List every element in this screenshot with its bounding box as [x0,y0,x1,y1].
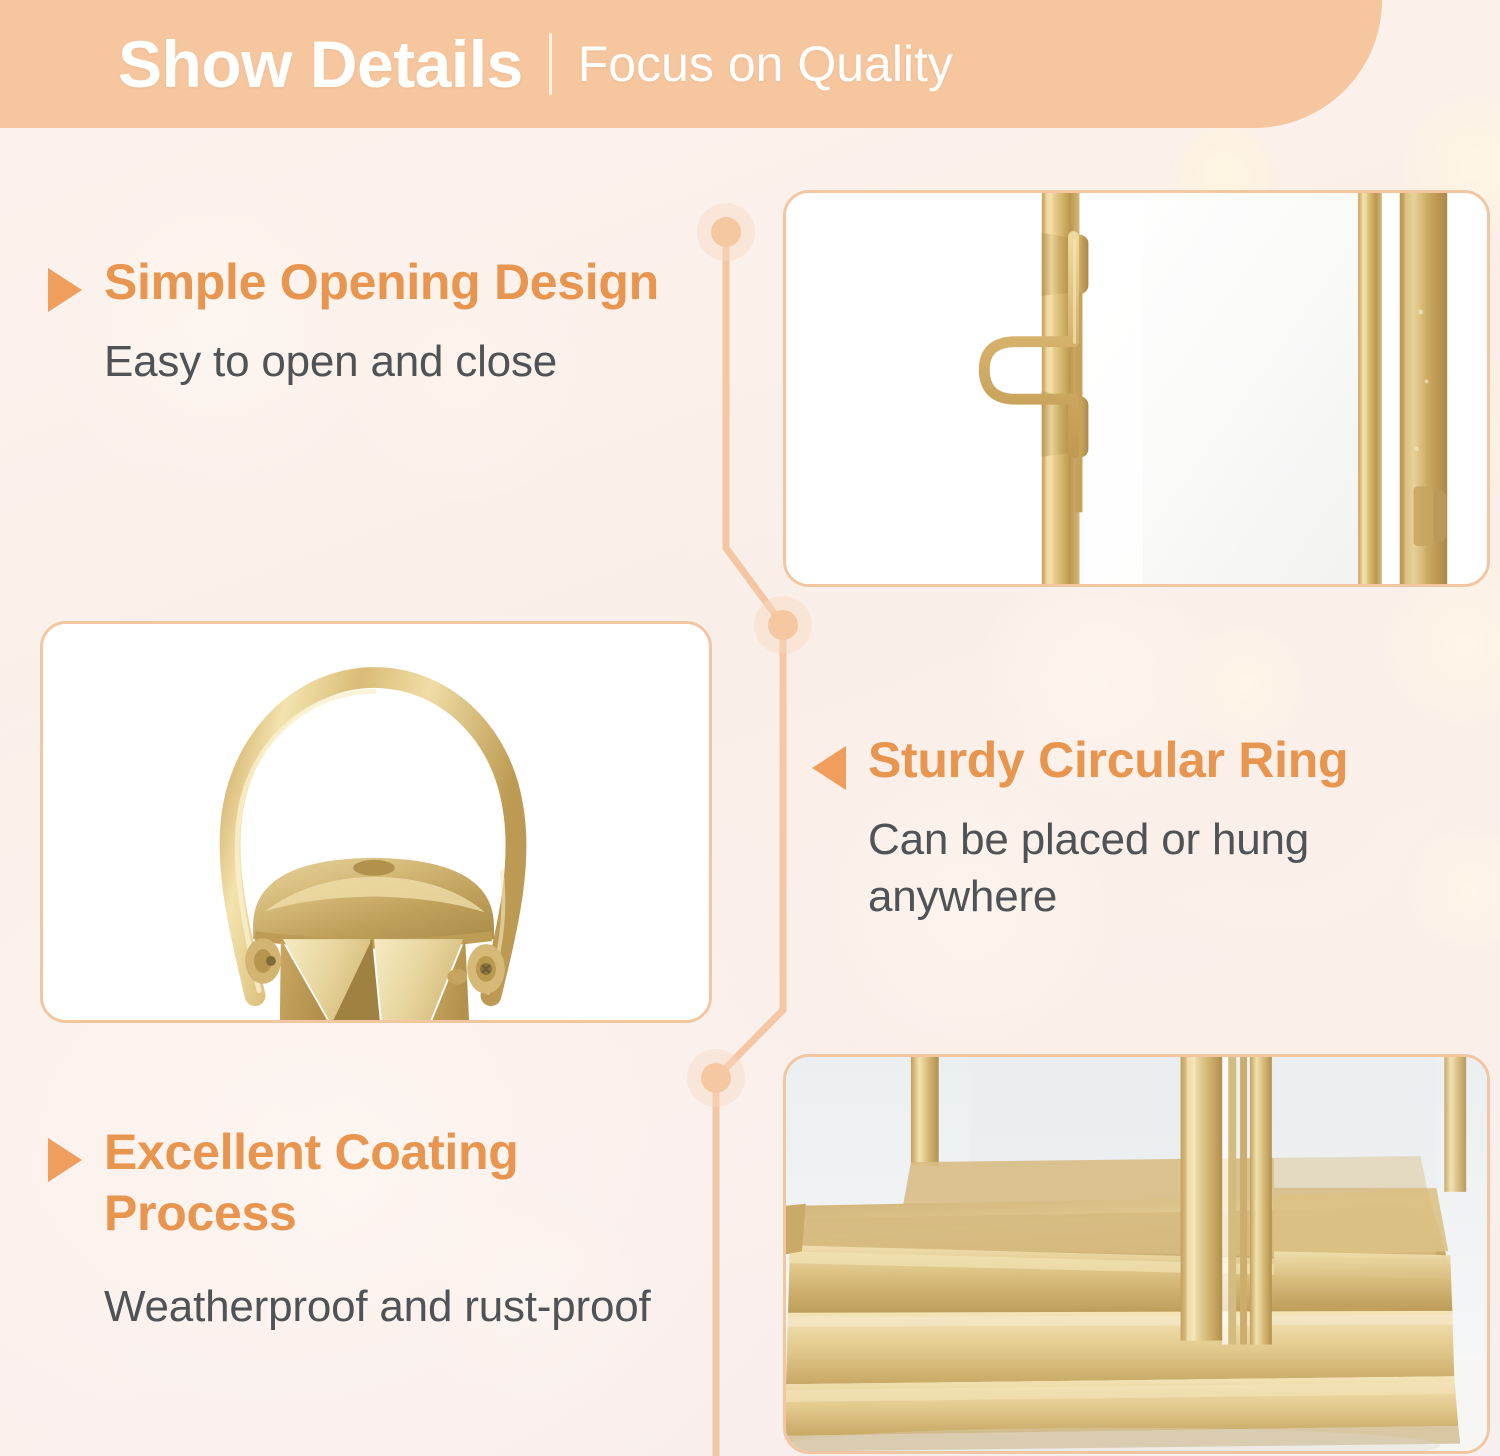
feature-description: Easy to open and close [104,333,708,390]
feature-excellent-coating-process: Excellent Coating Process Weatherproof a… [48,1122,688,1335]
hinge-latch-illustration [786,193,1487,587]
feature-heading-row: Excellent Coating Process [48,1122,688,1244]
connector-dot-middle [754,596,812,654]
header-content: Show Details Focus on Quality [118,0,953,128]
handle-ring-photo[interactable] [40,621,712,1023]
infographic-page: Show Details Focus on Quality [0,0,1500,1456]
triangle-right-icon [48,1138,82,1182]
header-band: Show Details Focus on Quality [0,0,1382,128]
feature-title: Sturdy Circular Ring [868,730,1348,791]
base-corner-photo[interactable] [783,1054,1490,1454]
feature-title: Simple Opening Design [104,252,659,313]
hinge-latch-photo[interactable] [783,190,1490,587]
header-divider [549,33,552,95]
feature-heading-row: Sturdy Circular Ring [812,730,1472,791]
triangle-left-icon [812,746,846,790]
connector-dot-bottom [687,1049,745,1107]
feature-heading-row: Simple Opening Design [48,252,708,313]
handle-ring-illustration [43,624,709,1022]
page-title: Show Details [118,31,523,97]
feature-description: Can be placed or hung anywhere [868,811,1472,925]
header-subtitle: Focus on Quality [578,39,953,89]
base-corner-illustration [786,1057,1487,1454]
feature-sturdy-circular-ring: Sturdy Circular Ring Can be placed or hu… [812,730,1472,925]
feature-title: Excellent Coating Process [104,1122,688,1244]
triangle-right-icon [48,268,82,312]
feature-description: Weatherproof and rust-proof [104,1278,688,1335]
feature-simple-opening-design: Simple Opening Design Easy to open and c… [48,252,708,390]
